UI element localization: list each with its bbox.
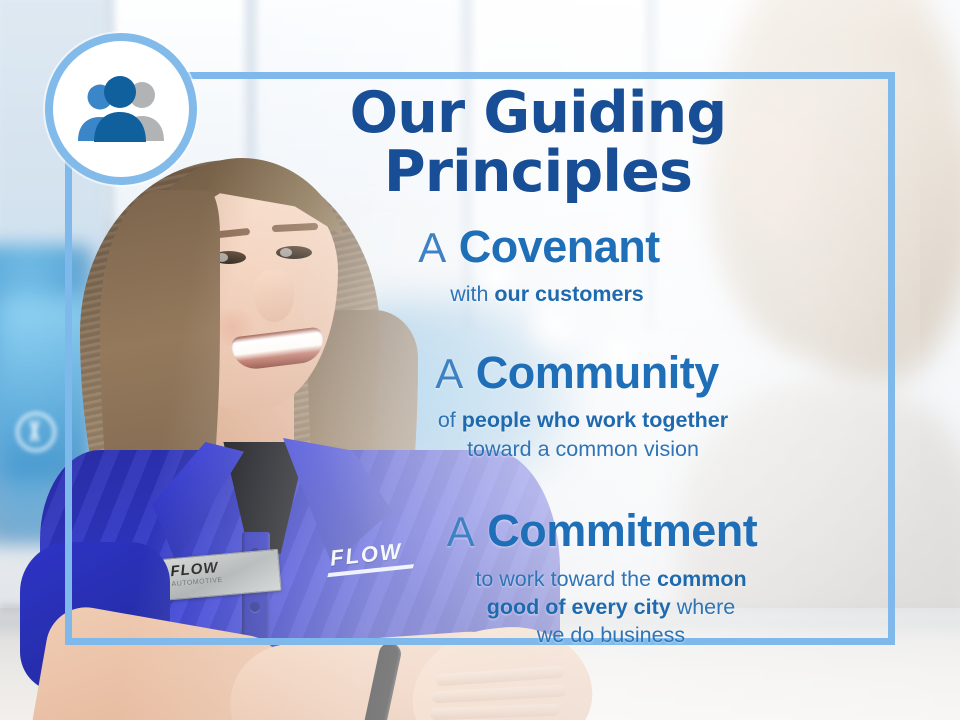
page-title: Our Guiding Principles bbox=[200, 84, 876, 203]
subtext-plain: with bbox=[450, 282, 494, 306]
principle-subtext-line: of people who work together bbox=[290, 406, 876, 434]
principle-heading: A Covenant bbox=[202, 223, 876, 271]
principle-subtext-line: we do business bbox=[346, 621, 876, 649]
principle-heading: A Community bbox=[278, 349, 876, 397]
subtext-plain: to work toward the bbox=[475, 567, 657, 591]
principle-article: A bbox=[435, 350, 463, 397]
principle-heading: A Commitment bbox=[328, 507, 876, 555]
subtext-emphasis: our customers bbox=[494, 282, 643, 306]
subtext-plain: toward a common vision bbox=[467, 437, 699, 461]
people-group-icon bbox=[75, 75, 167, 143]
subtext-plain: we do business bbox=[537, 623, 685, 647]
principle-word: Community bbox=[476, 347, 719, 398]
text-column: Our Guiding Principles A Covenant with o… bbox=[200, 84, 876, 650]
principle-subtext-line: with our customers bbox=[218, 280, 876, 308]
subtext-plain: where bbox=[671, 595, 736, 619]
principle-article: A bbox=[418, 224, 446, 271]
principle-subtext-line: to work toward the common bbox=[346, 565, 876, 593]
guiding-principles-graphic: FLOW FLOW AUTOMOTIVE bbox=[0, 0, 960, 720]
principle-subtext-line: toward a common vision bbox=[290, 435, 876, 463]
subtext-emphasis: common bbox=[657, 567, 747, 591]
principle-commitment: A Commitment to work toward the commongo… bbox=[328, 507, 876, 650]
principle-word: Covenant bbox=[459, 221, 660, 272]
principle-community: A Community of people who work togethert… bbox=[278, 349, 876, 463]
principle-article: A bbox=[447, 508, 475, 555]
principle-word: Commitment bbox=[487, 505, 757, 556]
principle-subtext-line: good of every city where bbox=[346, 593, 876, 621]
principle-covenant: A Covenant with our customers bbox=[202, 223, 876, 309]
principle-subtext: with our customers bbox=[218, 280, 876, 308]
subtext-plain: of bbox=[438, 408, 462, 432]
people-group-badge bbox=[45, 33, 197, 185]
subtext-emphasis: good of every city bbox=[487, 595, 671, 619]
principle-subtext: of people who work togethertoward a comm… bbox=[290, 406, 876, 463]
principle-subtext: to work toward the commongood of every c… bbox=[346, 565, 876, 650]
subtext-emphasis: people who work together bbox=[462, 408, 728, 432]
